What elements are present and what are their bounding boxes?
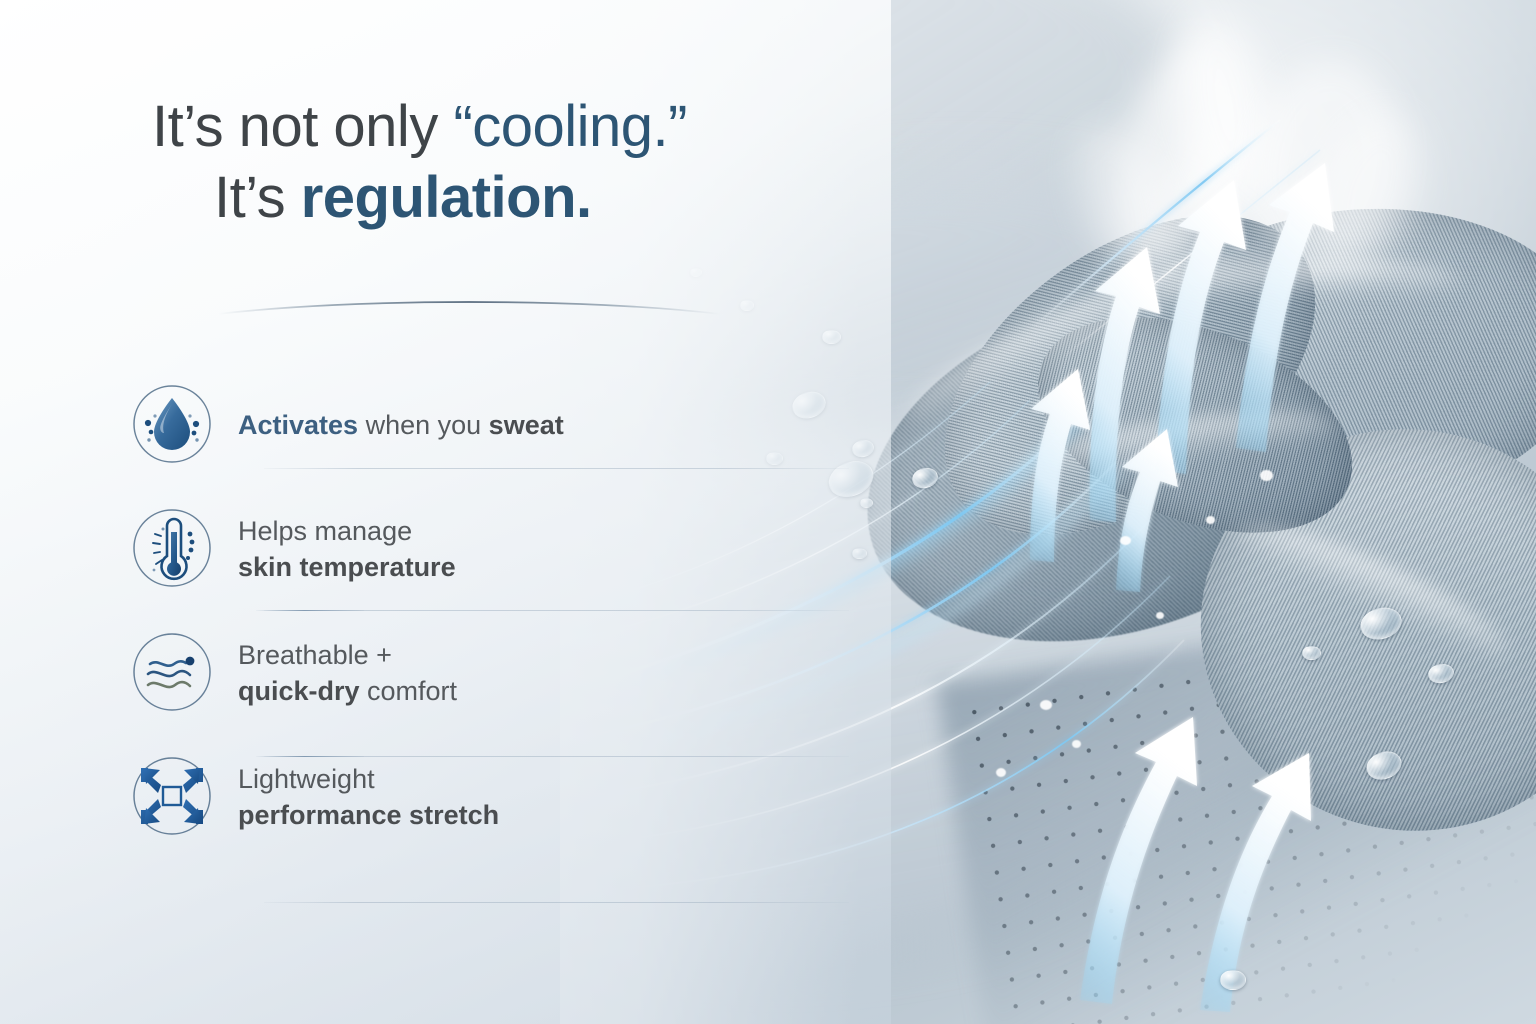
feature-3-line-1: Breathable + <box>238 640 392 670</box>
feature-text-breathable: Breathable + quick-dry comfort <box>238 635 457 709</box>
feature-4-line-2: performance stretch <box>238 800 499 830</box>
feature-list: Activates when you sweat <box>128 362 748 858</box>
water-droplet-icon <box>128 380 216 468</box>
feature-1-part-3: sweat <box>489 410 564 440</box>
infographic-canvas: It’s not only “cooling.” It’s regulation… <box>0 0 1536 1024</box>
light-spark <box>1040 700 1052 710</box>
headline-line-1: It’s not only “cooling.” <box>152 96 792 159</box>
feature-text-stretch: Lightweight performance stretch <box>238 759 499 833</box>
feature-1-part-1: Activates <box>238 410 358 440</box>
feature-item-stretch[interactable]: Lightweight performance stretch <box>128 734 748 858</box>
water-droplet <box>1302 646 1321 660</box>
headline-emphasis-2: regulation. <box>301 165 592 230</box>
headline-line-2: It’s regulation. <box>214 167 792 230</box>
water-droplet <box>1220 970 1246 990</box>
arrow-group-upper <box>1030 163 1334 592</box>
feature-3-line-2-bold: quick-dry <box>238 676 360 706</box>
feature-4-line-1: Lightweight <box>238 764 375 794</box>
feature-2-line-2: skin temperature <box>238 552 456 582</box>
four-way-stretch-icon <box>128 752 216 840</box>
light-spark <box>1072 740 1081 748</box>
feature-2-line-1: Helps manage <box>238 516 412 546</box>
airflow-waves-icon <box>128 628 216 716</box>
page-title: It’s not only “cooling.” It’s regulation… <box>152 96 792 229</box>
feature-text-activates: Activates when you sweat <box>238 405 564 443</box>
feature-1-part-2: when you <box>358 410 489 440</box>
feature-divider-1 <box>264 468 849 469</box>
light-spark <box>1206 516 1215 524</box>
light-spark <box>996 768 1006 777</box>
headline-lead-2: It’s <box>214 165 301 230</box>
thermometer-icon <box>128 504 216 592</box>
feature-text-temperature: Helps manage skin temperature <box>238 511 456 585</box>
curved-hairline-divider <box>214 294 724 320</box>
headline-emphasis-1: “cooling.” <box>453 94 687 159</box>
feature-item-breathable[interactable]: Breathable + quick-dry comfort <box>128 610 748 734</box>
headline-lead-1: It’s not only <box>152 94 453 159</box>
light-spark <box>1260 470 1273 481</box>
light-spark <box>1156 612 1164 619</box>
feature-divider-4 <box>264 902 849 903</box>
arrow-group-lower <box>1080 717 1311 1012</box>
content-panel: It’s not only “cooling.” It’s regulation… <box>0 0 760 1024</box>
feature-item-temperature[interactable]: Helps manage skin temperature <box>128 486 748 610</box>
feature-3-line-2-rest: comfort <box>360 676 458 706</box>
light-spark <box>1120 536 1131 545</box>
